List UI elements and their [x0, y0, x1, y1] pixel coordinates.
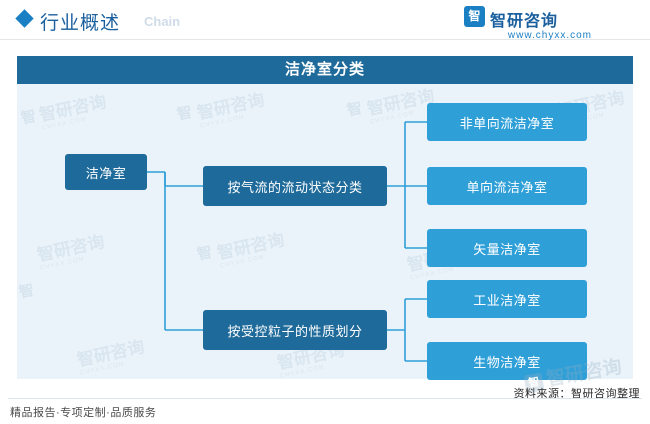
diagram-node-branch-2[interactable]: 按受控粒子的性质划分	[203, 310, 387, 350]
diagram-node-leaf-4[interactable]: 工业洁净室	[427, 280, 587, 318]
brand-logo: 智 智研咨询	[464, 6, 592, 28]
diagram-node-leaf-3[interactable]: 矢量洁净室	[427, 229, 587, 267]
diagram-node-leaf-5[interactable]: 生物洁净室	[427, 342, 587, 380]
footer-tagline: 精品报告·专项定制·品质服务	[10, 404, 156, 420]
brand-name: 智研咨询	[490, 7, 558, 31]
diamond-icon	[15, 9, 33, 27]
brand-badge-icon: 智	[464, 6, 485, 27]
chart-title: 洁净室分类	[17, 56, 633, 84]
brand-url: www.chyxx.com	[508, 30, 592, 41]
page-subtitle: Chain	[144, 14, 180, 29]
diagram-node-leaf-2[interactable]: 单向流洁净室	[427, 167, 587, 205]
diagram-canvas: 智研咨询CHYXX.COM 智研咨询CHYXX.COM 智研咨询CHYXX.CO…	[17, 84, 633, 379]
diagram-node-root[interactable]: 洁净室	[65, 154, 147, 190]
diagram-node-branch-1[interactable]: 按气流的流动状态分类	[203, 166, 387, 206]
diagram-node-leaf-1[interactable]: 非单向流洁净室	[427, 103, 587, 141]
page-title: 行业概述	[40, 8, 120, 35]
footer-divider	[8, 398, 642, 399]
